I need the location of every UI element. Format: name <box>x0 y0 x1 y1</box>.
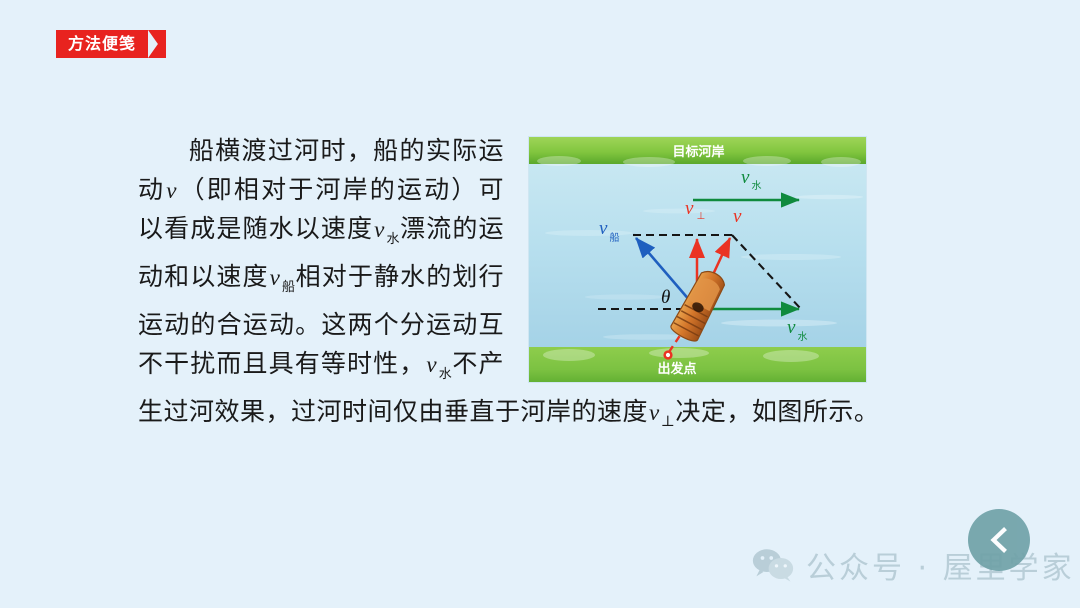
theta-angle-label: θ <box>661 287 670 308</box>
watermark-text: 公众号 · 屋里学家 <box>806 543 1075 587</box>
chevron-left-icon <box>985 526 1013 554</box>
method-note-banner: 方法便笺 <box>56 30 166 58</box>
wechat-icon <box>752 548 794 582</box>
river-crossing-diagram: 目标河岸 出发点 v水 v船 v⊥ v <box>528 136 867 383</box>
back-button[interactable] <box>968 509 1030 571</box>
para-v-perp-symbol: v <box>648 400 661 425</box>
target-bank-label: 目标河岸 <box>672 144 724 160</box>
ribbon-notch-icon <box>148 30 166 58</box>
start-point-marker-center <box>666 353 670 357</box>
para-v-water-sub: 水 <box>386 231 400 246</box>
start-point-label: 出发点 <box>657 361 696 377</box>
para-v-boat-sub: 船 <box>281 279 295 294</box>
para-v-water-symbol: v <box>373 217 386 242</box>
para-seg-6: 决定，如图所示。 <box>675 399 879 426</box>
para-v-water2-sub: 水 <box>438 366 452 381</box>
para-v-symbol: v <box>165 178 178 203</box>
v-resultant-label: v <box>733 206 742 227</box>
para-v-water2-symbol: v <box>425 352 438 377</box>
para-v-boat-symbol: v <box>269 265 282 290</box>
para-v-perp-sub: ⊥ <box>661 414 676 430</box>
banner-label: 方法便笺 <box>56 30 148 58</box>
